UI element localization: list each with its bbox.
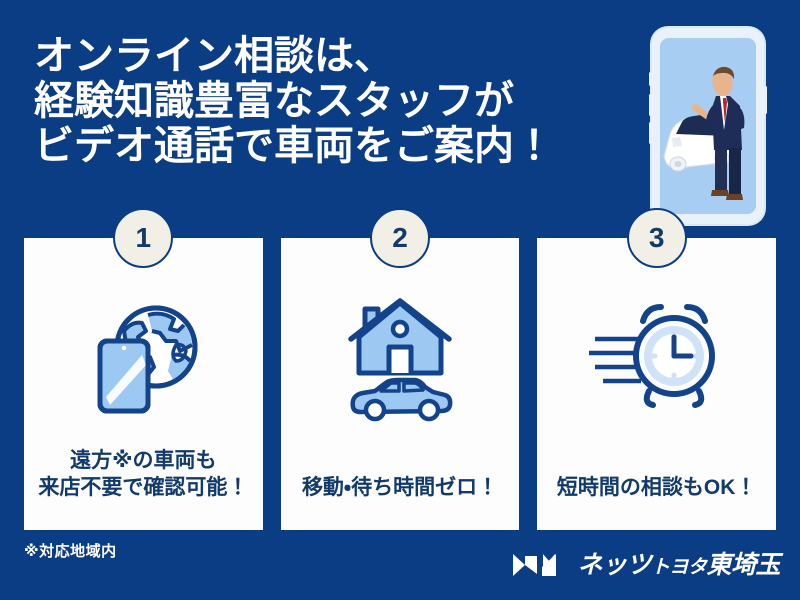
- panel-caption-3: 短時間の相談もOK！: [537, 474, 776, 502]
- house-car-icon: [337, 291, 463, 423]
- brand-region: 東埼玉: [706, 551, 780, 579]
- panel-caption-1-line-1: 遠方※の車両も: [24, 447, 263, 475]
- brand-sub: トヨタ: [651, 557, 707, 578]
- alarm-clock-speed-icon: [587, 299, 727, 415]
- panel-caption-2-line-1: 移動・待ち時間ゼロ！: [281, 474, 520, 502]
- netz-n-mark-icon: [511, 552, 567, 578]
- phone-volume-down-button: [649, 122, 652, 144]
- panel-number-badge-2: 2: [370, 208, 430, 268]
- panel-icon-3: [537, 282, 776, 432]
- feature-panel-1[interactable]: 1: [22, 236, 265, 532]
- headline-line-3: ビデオ通話で車両をご案内！: [34, 124, 654, 169]
- panel-icon-1: [24, 282, 263, 432]
- panel-icon-2: [281, 282, 520, 432]
- footnote: ※対応地域内: [24, 540, 117, 561]
- feature-panel-2[interactable]: 2 移動・待ち時間ゼロ！: [279, 236, 522, 532]
- phone-side-button: [649, 72, 652, 86]
- phone-power-button: [764, 86, 767, 114]
- feature-panels: 1: [22, 236, 778, 532]
- brand-logo: ネッツトヨタ東埼玉: [511, 548, 780, 582]
- brand-logo-text: ネッツトヨタ東埼玉: [577, 553, 780, 578]
- phone-volume-up-button: [649, 94, 652, 116]
- headline-line-2: 経験知識豊富なスタッフが: [34, 79, 654, 124]
- salesman-car-illustration: [660, 38, 756, 214]
- hero-phone-illustration: [652, 28, 764, 224]
- panel-caption-1-line-2: 来店不要で確認可能！: [24, 474, 263, 502]
- headline-line-1: オンライン相談は、: [34, 34, 654, 79]
- smartphone-globe-icon: [80, 297, 206, 417]
- phone-screen: [660, 38, 756, 214]
- panel-number-badge-1: 1: [113, 208, 173, 268]
- headline: オンライン相談は、 経験知識豊富なスタッフが ビデオ通話で車両をご案内！: [34, 34, 654, 168]
- panel-caption-1: 遠方※の車両も 来店不要で確認可能！: [24, 447, 263, 502]
- panel-number-badge-3: 3: [627, 208, 687, 268]
- panel-caption-2: 移動・待ち時間ゼロ！: [281, 474, 520, 502]
- brand-main: ネッツ: [577, 551, 651, 579]
- panel-caption-3-line-1: 短時間の相談もOK！: [537, 474, 776, 502]
- feature-panel-3[interactable]: 3: [535, 236, 778, 532]
- banner-root: オンライン相談は、 経験知識豊富なスタッフが ビデオ通話で車両をご案内！: [0, 0, 800, 600]
